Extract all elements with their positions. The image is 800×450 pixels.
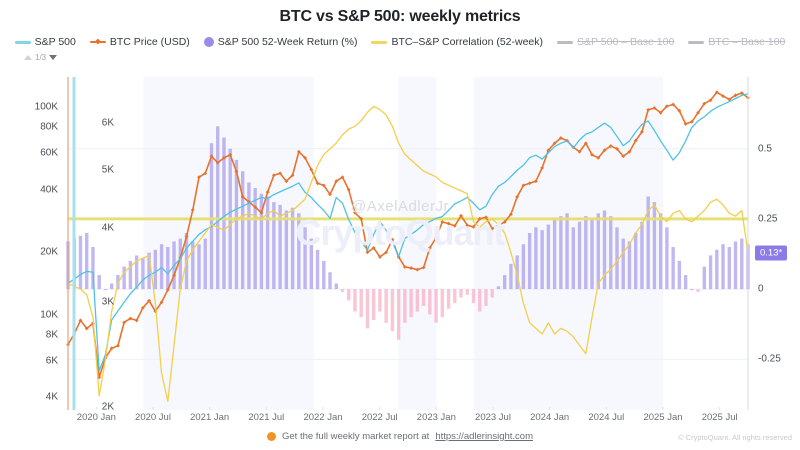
bar bbox=[447, 289, 450, 309]
bar bbox=[497, 286, 500, 289]
triangle-down-icon[interactable] bbox=[49, 55, 57, 60]
bar bbox=[553, 219, 556, 289]
axis-tick-btc-3: 40K bbox=[40, 184, 58, 195]
bar bbox=[709, 255, 712, 289]
bar bbox=[703, 267, 706, 289]
bar bbox=[484, 289, 487, 306]
bar bbox=[528, 233, 531, 289]
bar bbox=[197, 244, 200, 289]
bar bbox=[572, 227, 575, 289]
page-title: BTC vs S&P 500: weekly metrics bbox=[0, 8, 800, 26]
bar bbox=[372, 289, 375, 320]
axis-tick-right-1: 0.25 bbox=[758, 213, 777, 224]
axis-tick-x-9: 2024 Jul bbox=[588, 412, 624, 423]
axis-tick-sp-4: 2K bbox=[102, 402, 114, 413]
axis-tick-x-5: 2022 Jul bbox=[362, 412, 398, 423]
bar bbox=[584, 216, 587, 289]
bar bbox=[690, 289, 693, 290]
legend-item-label: BTC Price (USD) bbox=[110, 36, 190, 48]
legend-item-label: S&P 500 bbox=[35, 36, 76, 48]
axis-tick-btc-6: 8K bbox=[46, 329, 58, 340]
axis-tick-x-10: 2025 Jan bbox=[643, 412, 682, 423]
legend-item-label: S&P 500 52-Week Return (%) bbox=[218, 36, 358, 48]
bar bbox=[266, 196, 269, 289]
bar bbox=[322, 261, 325, 289]
legend-swatch-marker-icon bbox=[90, 38, 106, 47]
bar bbox=[366, 289, 369, 328]
bar bbox=[696, 289, 699, 292]
bar bbox=[609, 216, 612, 289]
axis-tick-sp-2: 4K bbox=[102, 222, 114, 233]
axis-tick-btc-8: 4K bbox=[46, 392, 58, 403]
bar bbox=[728, 247, 731, 289]
legend-item-5[interactable]: BTC – Base 100 bbox=[688, 36, 785, 48]
legend-item-0[interactable]: S&P 500 bbox=[15, 36, 76, 48]
bar bbox=[141, 258, 144, 289]
bar bbox=[459, 289, 462, 297]
bar bbox=[97, 275, 100, 289]
axis-tick-x-7: 2023 Jul bbox=[475, 412, 511, 423]
legend-item-label: BTC–S&P Correlation (52-week) bbox=[391, 36, 543, 48]
axis-tick-x-3: 2021 Jul bbox=[248, 412, 284, 423]
axis-tick-x-0: 2020 Jan bbox=[77, 412, 116, 423]
plot-area[interactable] bbox=[0, 75, 800, 410]
bar bbox=[590, 219, 593, 289]
bar bbox=[565, 213, 568, 289]
bar bbox=[578, 222, 581, 289]
bar bbox=[659, 213, 662, 289]
axis-tick-x-8: 2024 Jan bbox=[530, 412, 569, 423]
bar bbox=[347, 289, 350, 300]
bar bbox=[522, 244, 525, 289]
bar bbox=[272, 202, 275, 289]
bar bbox=[734, 241, 737, 289]
bar bbox=[222, 138, 225, 290]
footer-copyright: © CryptoQuant. All rights reserved bbox=[678, 433, 792, 442]
bar bbox=[634, 233, 637, 289]
bitcoin-dot-icon bbox=[267, 432, 276, 441]
bar bbox=[441, 289, 444, 317]
bar bbox=[478, 289, 481, 311]
bar bbox=[453, 289, 456, 303]
bar bbox=[303, 227, 306, 289]
bar bbox=[715, 250, 718, 289]
chart-root: BTC vs S&P 500: weekly metrics S&P 500BT… bbox=[0, 0, 800, 450]
bar bbox=[403, 289, 406, 323]
legend-pager[interactable]: 1/3 bbox=[24, 53, 57, 62]
bar bbox=[335, 283, 338, 289]
footer-cta-text: Get the full weekly market report at bbox=[282, 431, 429, 442]
bar bbox=[684, 275, 687, 289]
axis-tick-sp-3: 3K bbox=[102, 297, 114, 308]
bar bbox=[509, 264, 512, 289]
bar bbox=[491, 289, 494, 297]
bar bbox=[428, 289, 431, 314]
triangle-up-icon[interactable] bbox=[24, 55, 32, 60]
axis-tick-x-11: 2025 Jul bbox=[702, 412, 738, 423]
bar bbox=[422, 289, 425, 306]
pager-count: 1/3 bbox=[35, 53, 46, 62]
axis-tick-btc-1: 80K bbox=[40, 122, 58, 133]
bar bbox=[559, 216, 562, 289]
legend-item-1[interactable]: BTC Price (USD) bbox=[90, 36, 190, 48]
axis-tick-btc-7: 6K bbox=[46, 355, 58, 366]
bar bbox=[310, 239, 313, 290]
bar bbox=[615, 227, 618, 289]
bar bbox=[122, 267, 125, 289]
bar bbox=[341, 289, 344, 292]
bar bbox=[416, 289, 419, 311]
bar bbox=[316, 250, 319, 289]
legend-swatch-line-icon bbox=[15, 41, 31, 44]
legend-item-4[interactable]: S&P 500 – Base 100 bbox=[557, 36, 674, 48]
legend-item-label: BTC – Base 100 bbox=[708, 36, 785, 48]
axis-tick-right-3: -0.25 bbox=[758, 354, 781, 365]
bar bbox=[397, 289, 400, 340]
bar bbox=[678, 261, 681, 289]
bar bbox=[640, 222, 643, 289]
bar bbox=[204, 239, 207, 290]
legend-swatch-line-icon bbox=[371, 41, 387, 44]
bar bbox=[360, 289, 363, 317]
bar bbox=[503, 275, 506, 289]
bar bbox=[378, 289, 381, 311]
legend-item-3[interactable]: BTC–S&P Correlation (52-week) bbox=[371, 36, 543, 48]
axis-tick-btc-5: 10K bbox=[40, 309, 58, 320]
bar bbox=[110, 283, 113, 289]
bar bbox=[665, 227, 668, 289]
axis-tick-right-0: 0.5 bbox=[758, 143, 772, 154]
current-value-badge: 0.13* bbox=[755, 245, 787, 260]
bar bbox=[154, 250, 157, 289]
bar bbox=[384, 289, 387, 323]
bar bbox=[628, 241, 631, 289]
legend-swatch-line-icon bbox=[688, 41, 704, 44]
legend-swatch-dot-icon bbox=[204, 37, 214, 47]
axis-tick-x-6: 2023 Jan bbox=[417, 412, 456, 423]
bar bbox=[534, 227, 537, 289]
axis-tick-btc-4: 20K bbox=[40, 247, 58, 258]
bar bbox=[247, 182, 250, 289]
bar bbox=[472, 289, 475, 303]
axis-tick-x-4: 2022 Jan bbox=[303, 412, 342, 423]
bar bbox=[328, 272, 331, 289]
bar bbox=[434, 289, 437, 323]
legend-item-2[interactable]: S&P 500 52-Week Return (%) bbox=[204, 36, 358, 48]
bar bbox=[671, 247, 674, 289]
axis-tick-x-2: 2021 Jan bbox=[190, 412, 229, 423]
bar bbox=[210, 143, 213, 289]
bar bbox=[740, 239, 743, 290]
bar bbox=[721, 244, 724, 289]
legend-swatch-line-icon bbox=[557, 41, 573, 44]
bar bbox=[79, 236, 82, 289]
axis-tick-x-1: 2020 Jul bbox=[135, 412, 171, 423]
bar bbox=[547, 225, 550, 290]
axis-tick-btc-0: 100K bbox=[35, 102, 58, 113]
legend-item-label: S&P 500 – Base 100 bbox=[577, 36, 674, 48]
bar bbox=[166, 247, 169, 289]
bar bbox=[160, 244, 163, 289]
bar bbox=[285, 211, 288, 290]
axis-tick-right-2: 0 bbox=[758, 284, 764, 295]
bar bbox=[653, 202, 656, 289]
bar bbox=[104, 289, 107, 290]
bar bbox=[540, 230, 543, 289]
bar bbox=[253, 188, 256, 289]
axis-tick-sp-1: 5K bbox=[102, 165, 114, 176]
bar bbox=[216, 126, 219, 289]
bar bbox=[353, 289, 356, 311]
bar bbox=[622, 239, 625, 290]
bar bbox=[85, 233, 88, 289]
bar bbox=[409, 289, 412, 317]
bar bbox=[597, 213, 600, 289]
bar bbox=[297, 213, 300, 289]
chart-canvas bbox=[0, 75, 800, 410]
axis-tick-sp-0: 6K bbox=[102, 118, 114, 129]
shaded-band-1 bbox=[398, 77, 436, 410]
footer-cta-link[interactable]: https://adlerinsight.com bbox=[435, 431, 533, 442]
chart-legend[interactable]: S&P 500BTC Price (USD)S&P 500 52-Week Re… bbox=[0, 36, 800, 48]
bar bbox=[391, 289, 394, 331]
bar bbox=[466, 289, 469, 295]
axis-tick-btc-2: 60K bbox=[40, 148, 58, 159]
